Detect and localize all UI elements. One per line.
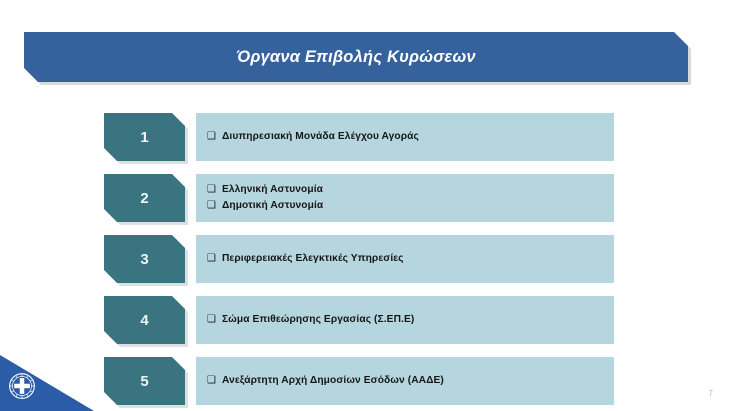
bullet-line: ❑ Διυπηρεσιακή Μονάδα Ελέγχου Αγοράς xyxy=(207,129,614,145)
number-label: 4 xyxy=(140,312,148,329)
slide-canvas: Όργανα Επιβολής Κυρώσεων 1 ❑ Διυπηρεσιακ… xyxy=(0,0,731,411)
list-item: 3 ❑ Περιφερειακές Ελεγκτικές Υπηρεσίες xyxy=(104,235,614,283)
content-box-1: ❑ Διυπηρεσιακή Μονάδα Ελέγχου Αγοράς xyxy=(196,113,614,161)
square-bullet-icon: ❑ xyxy=(207,376,216,386)
number-tag-2: 2 xyxy=(104,174,185,222)
numbered-list: 1 ❑ Διυπηρεσιακή Μονάδα Ελέγχου Αγοράς 2 xyxy=(104,113,614,405)
bullet-text: Διυπηρεσιακή Μονάδα Ελέγχου Αγοράς xyxy=(222,129,419,145)
content-box-2: ❑ Ελληνική Αστυνομία ❑ Δημοτική Αστυνομί… xyxy=(196,174,614,222)
number-label: 1 xyxy=(140,129,148,146)
bullet-text: Περιφερειακές Ελεγκτικές Υπηρεσίες xyxy=(222,251,404,267)
number-tag-3: 3 xyxy=(104,235,185,283)
bullet-line: ❑ Περιφερειακές Ελεγκτικές Υπηρεσίες xyxy=(207,251,614,267)
list-item: 2 ❑ Ελληνική Αστυνομία ❑ Δημοτική Αστυνο… xyxy=(104,174,614,222)
number-tag-5: 5 xyxy=(104,357,185,405)
content-box-3: ❑ Περιφερειακές Ελεγκτικές Υπηρεσίες xyxy=(196,235,614,283)
square-bullet-icon: ❑ xyxy=(207,185,216,195)
bullet-text: Ανεξάρτητη Αρχή Δημοσίων Εσόδων (ΑΑΔΕ) xyxy=(222,373,444,389)
bullet-text: Δημοτική Αστυνομία xyxy=(222,198,323,214)
list-item: 4 ❑ Σώμα Επιθεώρησης Εργασίας (Σ.ΕΠ.Ε) xyxy=(104,296,614,344)
number-tag-body: 3 xyxy=(104,235,185,283)
content-box-5: ❑ Ανεξάρτητη Αρχή Δημοσίων Εσόδων (ΑΑΔΕ) xyxy=(196,357,614,405)
bullet-text: Σώμα Επιθεώρησης Εργασίας (Σ.ΕΠ.Ε) xyxy=(222,312,414,328)
greek-government-emblem-icon xyxy=(8,372,36,400)
list-item: 1 ❑ Διυπηρεσιακή Μονάδα Ελέγχου Αγοράς xyxy=(104,113,614,161)
number-tag-body: 5 xyxy=(104,357,185,405)
number-label: 2 xyxy=(140,190,148,207)
bullet-text: Ελληνική Αστυνομία xyxy=(222,182,323,198)
corner-logo xyxy=(0,355,94,411)
number-tag-1: 1 xyxy=(104,113,185,161)
bullet-line: ❑ Δημοτική Αστυνομία xyxy=(207,198,614,214)
content-box-4: ❑ Σώμα Επιθεώρησης Εργασίας (Σ.ΕΠ.Ε) xyxy=(196,296,614,344)
page-title: Όργανα Επιβολής Κυρώσεων xyxy=(236,48,476,67)
square-bullet-icon: ❑ xyxy=(207,315,216,325)
square-bullet-icon: ❑ xyxy=(207,132,216,142)
number-tag-4: 4 xyxy=(104,296,185,344)
square-bullet-icon: ❑ xyxy=(207,201,216,211)
number-tag-body: 4 xyxy=(104,296,185,344)
number-tag-body: 1 xyxy=(104,113,185,161)
number-label: 5 xyxy=(140,373,148,390)
number-tag-body: 2 xyxy=(104,174,185,222)
list-item: 5 ❑ Ανεξάρτητη Αρχή Δημοσίων Εσόδων (ΑΑΔ… xyxy=(104,357,614,405)
bullet-line: ❑ Ανεξάρτητη Αρχή Δημοσίων Εσόδων (ΑΑΔΕ) xyxy=(207,373,614,389)
title-banner-body: Όργανα Επιβολής Κυρώσεων xyxy=(24,32,688,82)
title-banner: Όργανα Επιβολής Κυρώσεων xyxy=(24,32,688,82)
bullet-line: ❑ Σώμα Επιθεώρησης Εργασίας (Σ.ΕΠ.Ε) xyxy=(207,312,614,328)
number-label: 3 xyxy=(140,251,148,268)
square-bullet-icon: ❑ xyxy=(207,254,216,264)
page-number: 7 xyxy=(709,389,713,398)
bullet-line: ❑ Ελληνική Αστυνομία xyxy=(207,182,614,198)
